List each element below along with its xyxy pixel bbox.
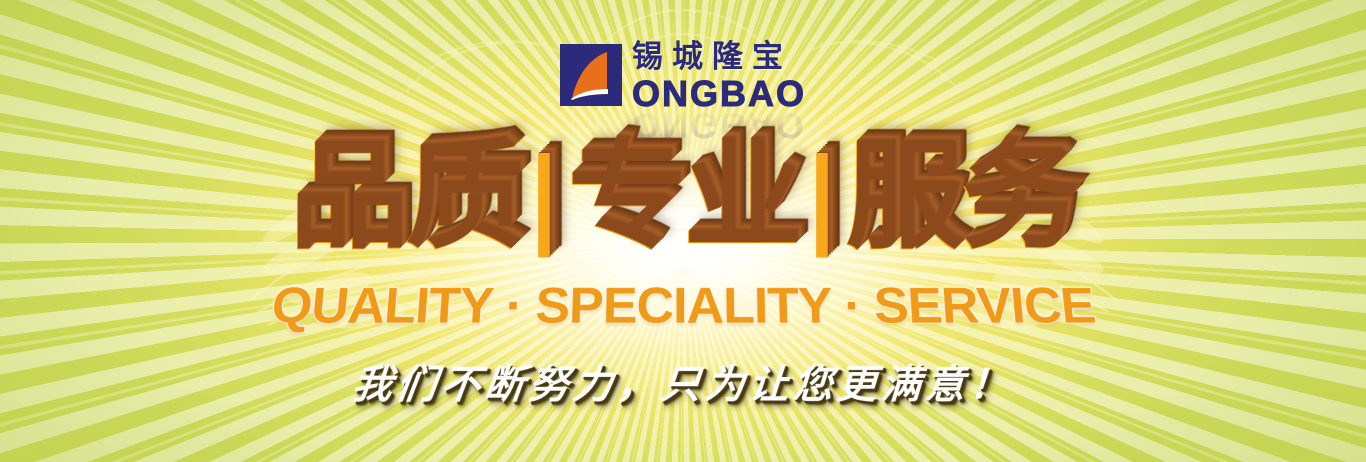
headline-char: 专 (567, 138, 683, 256)
english-subtitle: QUALITY · SPECIALITY · SERVICE (0, 276, 1366, 336)
logo-chinese-name: 锡城隆宝 (632, 42, 806, 73)
headline-char: 质 (405, 138, 521, 256)
longbao-sail-icon (560, 44, 622, 106)
headline-char: 业 (683, 138, 799, 256)
headline-separator: | (799, 145, 845, 249)
chinese-tagline-text: 我们不断努力，只为让您更满意！ (349, 352, 1014, 409)
headline-char: 服 (845, 138, 961, 256)
headline-separator: | (521, 145, 567, 249)
company-logo[interactable]: 锡城隆宝 ONGBAO (0, 42, 1366, 112)
headline-slogan: 品 质 | 专 业 | 服 务 (0, 122, 1366, 272)
promotional-banner: ONGBAO 锡城隆宝 ONGBAO 品 质 | 专 业 | (0, 0, 1366, 462)
headline-char: 品 (289, 138, 405, 256)
english-subtitle-text: QUALITY · SPECIALITY · SERVICE (268, 277, 1097, 335)
chinese-tagline: 我们不断努力，只为让您更满意！ (0, 352, 1366, 410)
headline-char: 务 (961, 138, 1077, 256)
logo-english-name: ONGBAO (632, 76, 806, 112)
